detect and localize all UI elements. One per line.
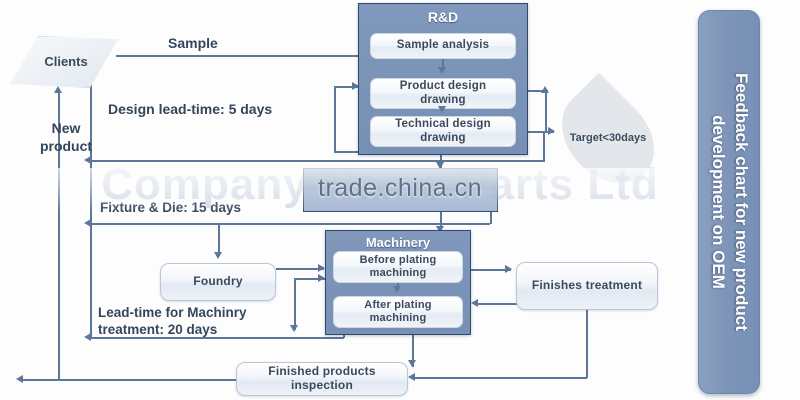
- arrowhead-inspection-return: [16, 375, 23, 383]
- arrowhead-machinery-left-in: [318, 274, 325, 282]
- rd-group-title: R&D: [359, 9, 527, 25]
- connector-finishes-to-machinery: [477, 303, 517, 305]
- label-design-lead-time: Design lead-time: 5 days: [108, 101, 272, 119]
- flowchart-canvas: Clients R&D Sample analysis Product desi…: [0, 0, 800, 400]
- node-finished-products-inspection[interactable]: Finished products inspection: [236, 362, 408, 396]
- node-before-plating-machining[interactable]: Before plating machining: [333, 251, 463, 283]
- connector-return-bus: [90, 76, 92, 338]
- node-product-design-drawing[interactable]: Product design drawing: [370, 78, 516, 109]
- connector-machinery-return-stub: [343, 335, 345, 338]
- arrowhead-fixture-to-foundry: [214, 252, 222, 259]
- node-sample-analysis[interactable]: Sample analysis: [370, 33, 516, 59]
- target-label: Target<30days: [552, 132, 664, 144]
- connector-fixture-down: [490, 212, 492, 224]
- connector-rd-down: [543, 131, 545, 161]
- label-sample: Sample: [168, 35, 218, 53]
- arrowhead-foundry-to-machinery: [318, 264, 325, 272]
- connector-rd-left-bottom: [334, 151, 360, 153]
- node-finishes-treatment[interactable]: Finishes treatment: [516, 262, 658, 310]
- arrowhead-finishes-to-machinery: [471, 299, 478, 307]
- connector-design-return: [90, 160, 545, 162]
- arrowhead-product-to-technical: [438, 106, 446, 113]
- connector-finishes-to-inspection: [414, 377, 587, 379]
- label-machinery-lead-time: Lead-time for Machinry treatment: 20 day…: [98, 305, 247, 339]
- node-foundry[interactable]: Foundry: [160, 263, 276, 301]
- arrowhead-sample-to-product: [438, 67, 446, 74]
- connector-finishes-down: [586, 310, 588, 378]
- connector-rd-left-vertical: [334, 86, 336, 152]
- arrowhead-machinery-left-down: [290, 325, 298, 332]
- arrowhead-before-to-after-plating: [393, 286, 401, 293]
- node-after-plating-machining[interactable]: After plating machining: [333, 296, 463, 328]
- label-new-product: New product: [33, 120, 99, 155]
- clients-label: Clients: [10, 36, 116, 86]
- arrowhead-machinery-to-finishes: [505, 265, 512, 273]
- arrowhead-machinery-to-inspection: [408, 360, 416, 367]
- connector-inspection-return: [22, 379, 236, 381]
- connector-machinery-left-vertical: [294, 278, 296, 330]
- label-fixture-die: Fixture & Die: 15 days: [100, 200, 241, 217]
- title-banner-text: Feedback chart for new product developme…: [706, 16, 752, 388]
- connector-sample-line: [116, 55, 360, 57]
- node-intermediate-stage[interactable]: [303, 168, 498, 212]
- arrowhead-finishes-to-inspection: [408, 373, 415, 381]
- arrowhead-rd-measure-up: [541, 86, 549, 93]
- connector-rd-measure-vertical: [545, 90, 547, 131]
- node-technical-design-drawing[interactable]: Technical design drawing: [370, 116, 516, 147]
- title-banner: Feedback chart for new product developme…: [698, 10, 760, 394]
- machinery-group-title: Machinery: [326, 235, 470, 250]
- arrowhead-new-product-up: [54, 86, 62, 93]
- connector-fixture-return: [90, 223, 490, 225]
